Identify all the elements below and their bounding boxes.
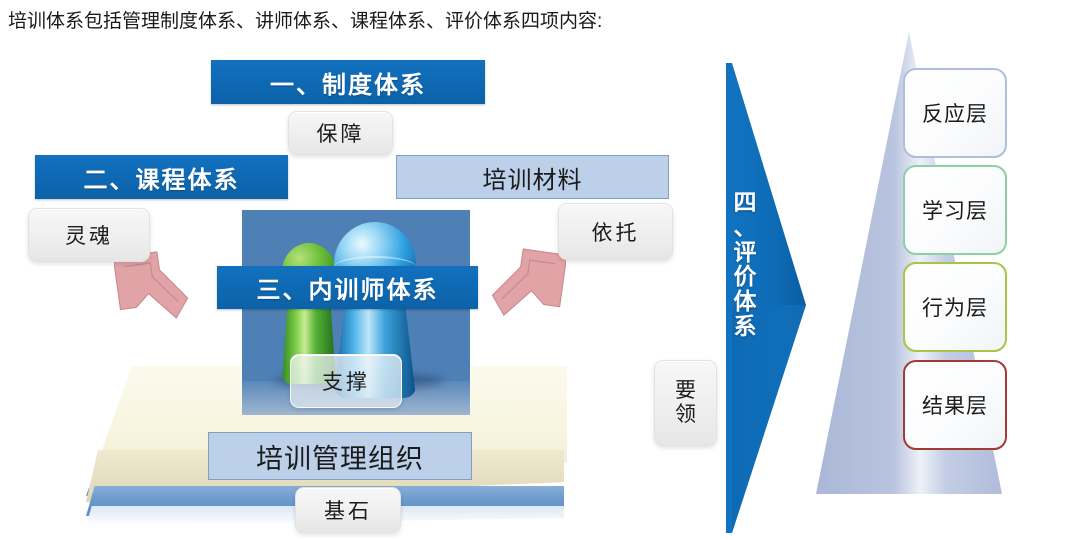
- chevron-char: 系: [730, 314, 760, 339]
- evaluation-system-label: 四 、 评 价 体 系: [730, 190, 760, 339]
- evaluation-level-label: 行为层: [922, 292, 988, 322]
- chip-guarantee[interactable]: 保障: [288, 111, 393, 155]
- chip-label: 保障: [317, 118, 365, 148]
- chip-label: 支撑: [322, 366, 370, 396]
- chevron-char: 价: [730, 264, 760, 289]
- chip-label: 依托: [592, 217, 640, 247]
- chip-reliance[interactable]: 依托: [558, 203, 673, 260]
- chip-support[interactable]: 支撑: [290, 354, 402, 408]
- training-management-org-box[interactable]: 培训管理组织: [208, 432, 472, 480]
- chip-label: 灵魂: [65, 220, 113, 250]
- banner-label: 一、制度体系: [270, 65, 426, 100]
- chip-label-line2: 领: [675, 403, 696, 427]
- slide-canvas: 培训体系包括管理制度体系、讲师体系、课程体系、评价体系四项内容: 反应层 学习层…: [0, 0, 1080, 539]
- training-management-org-label: 培训管理组织: [256, 437, 424, 476]
- chip-soul[interactable]: 灵魂: [28, 208, 150, 262]
- banner-label: 三、内训师体系: [257, 270, 439, 305]
- section-banner-curriculum[interactable]: 二、课程体系: [35, 155, 288, 199]
- training-material-label: 培训材料: [483, 160, 583, 195]
- evaluation-level-box-learning[interactable]: 学习层: [903, 165, 1007, 255]
- chip-essentials[interactable]: 要 领: [654, 360, 717, 446]
- arrow-up-right-icon: [488, 240, 566, 334]
- chip-cornerstone[interactable]: 基石: [295, 487, 401, 533]
- banner-label: 二、课程体系: [84, 160, 240, 195]
- evaluation-level-box-reaction[interactable]: 反应层: [903, 68, 1007, 158]
- chip-label-line1: 要: [675, 379, 696, 403]
- chevron-char: 评: [730, 240, 760, 265]
- chevron-char: 四: [730, 190, 760, 215]
- page-title: 培训体系包括管理制度体系、讲师体系、课程体系、评价体系四项内容:: [8, 6, 602, 33]
- chevron-char: 、: [730, 215, 760, 240]
- chevron-char: 体: [730, 289, 760, 314]
- training-material-box[interactable]: 培训材料: [396, 155, 669, 199]
- evaluation-level-label: 学习层: [922, 195, 988, 225]
- evaluation-level-box-behavior[interactable]: 行为层: [903, 262, 1007, 352]
- evaluation-level-label: 结果层: [922, 390, 988, 420]
- chip-label: 基石: [324, 495, 372, 525]
- section-banner-trainer[interactable]: 三、内训师体系: [217, 266, 478, 309]
- evaluation-level-label: 反应层: [922, 98, 988, 128]
- evaluation-level-box-result[interactable]: 结果层: [903, 360, 1007, 450]
- section-banner-system[interactable]: 一、制度体系: [211, 60, 485, 104]
